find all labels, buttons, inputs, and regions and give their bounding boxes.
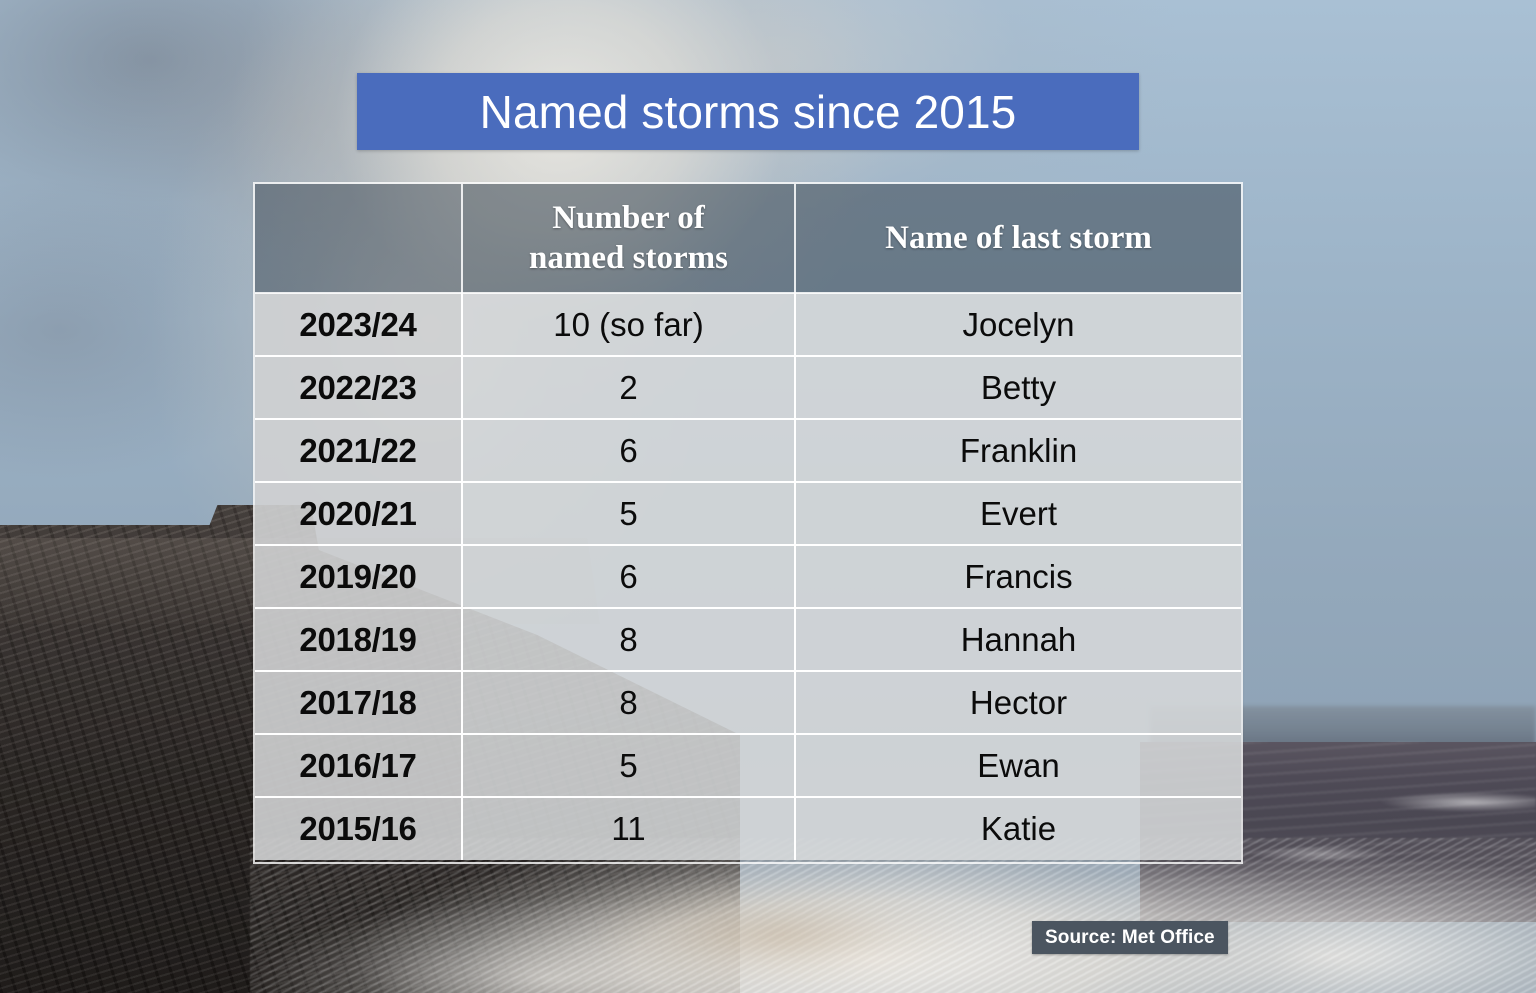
named-storms-table: Number of named storms Name of last stor…	[255, 184, 1241, 860]
cell-storm-count: 8	[462, 671, 795, 734]
cell-storm-count: 6	[462, 419, 795, 482]
cell-storm-count: 11	[462, 797, 795, 860]
column-header-season	[255, 184, 462, 293]
table-row: 2016/175Ewan	[255, 734, 1241, 797]
title-banner: Named storms since 2015	[357, 73, 1139, 150]
table-header-row: Number of named storms Name of last stor…	[255, 184, 1241, 293]
table-header: Number of named storms Name of last stor…	[255, 184, 1241, 293]
cell-storm-count: 5	[462, 482, 795, 545]
cell-season: 2015/16	[255, 797, 462, 860]
cell-last-storm-name: Hector	[795, 671, 1241, 734]
page-title: Named storms since 2015	[480, 89, 1017, 135]
table-row: 2018/198Hannah	[255, 608, 1241, 671]
table-row: 2017/188Hector	[255, 671, 1241, 734]
column-header-count-line1: Number of	[552, 200, 704, 236]
cell-last-storm-name: Ewan	[795, 734, 1241, 797]
cell-storm-count: 6	[462, 545, 795, 608]
table-body: 2023/2410 (so far)Jocelyn2022/232Betty20…	[255, 293, 1241, 860]
table-row: 2020/215Evert	[255, 482, 1241, 545]
column-header-last-storm: Name of last storm	[795, 184, 1241, 293]
background-foam-tint	[600, 880, 1020, 990]
cell-last-storm-name: Betty	[795, 356, 1241, 419]
table-row: 2023/2410 (so far)Jocelyn	[255, 293, 1241, 356]
table-row: 2021/226Franklin	[255, 419, 1241, 482]
table-row: 2022/232Betty	[255, 356, 1241, 419]
source-badge: Source: Met Office	[1032, 921, 1228, 954]
column-header-count: Number of named storms	[462, 184, 795, 293]
cell-storm-count: 10 (so far)	[462, 293, 795, 356]
table-row: 2019/206Francis	[255, 545, 1241, 608]
cell-season: 2019/20	[255, 545, 462, 608]
cell-season: 2021/22	[255, 419, 462, 482]
cell-season: 2018/19	[255, 608, 462, 671]
cell-storm-count: 8	[462, 608, 795, 671]
source-label: Source: Met Office	[1045, 927, 1215, 949]
cell-last-storm-name: Evert	[795, 482, 1241, 545]
cell-last-storm-name: Katie	[795, 797, 1241, 860]
column-header-count-line2: named storms	[529, 240, 728, 276]
cell-last-storm-name: Hannah	[795, 608, 1241, 671]
cell-last-storm-name: Francis	[795, 545, 1241, 608]
infographic-stage: Named storms since 2015 Number of named …	[0, 0, 1536, 993]
cell-season: 2016/17	[255, 734, 462, 797]
cell-season: 2023/24	[255, 293, 462, 356]
cell-season: 2017/18	[255, 671, 462, 734]
table-row: 2015/1611Katie	[255, 797, 1241, 860]
cell-season: 2020/21	[255, 482, 462, 545]
cell-storm-count: 5	[462, 734, 795, 797]
cell-storm-count: 2	[462, 356, 795, 419]
cell-season: 2022/23	[255, 356, 462, 419]
cell-last-storm-name: Jocelyn	[795, 293, 1241, 356]
cell-last-storm-name: Franklin	[795, 419, 1241, 482]
